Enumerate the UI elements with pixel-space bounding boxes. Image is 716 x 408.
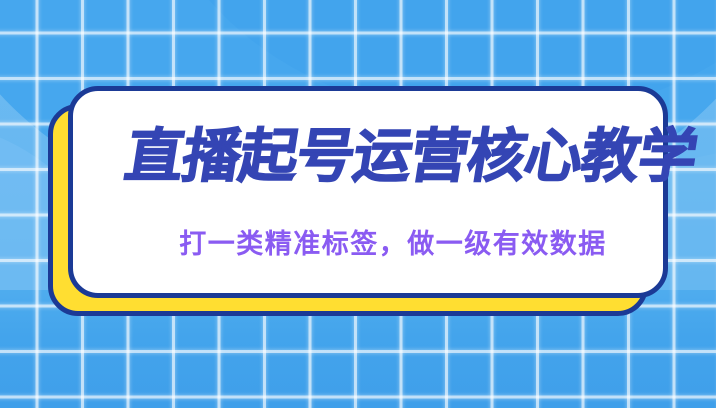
card-white-panel: 直播起号运营核心教学 打一类精准标签，做一级有效数据 — [68, 86, 668, 298]
poster-canvas: 直播起号运营核心教学 打一类精准标签，做一级有效数据 — [0, 0, 716, 408]
poster-title: 直播起号运营核心教学 — [86, 127, 716, 185]
poster-subtitle: 打一类精准标签，做一级有效数据 — [93, 231, 693, 258]
title-card-stack: 直播起号运营核心教学 打一类精准标签，做一级有效数据 — [48, 86, 668, 316]
